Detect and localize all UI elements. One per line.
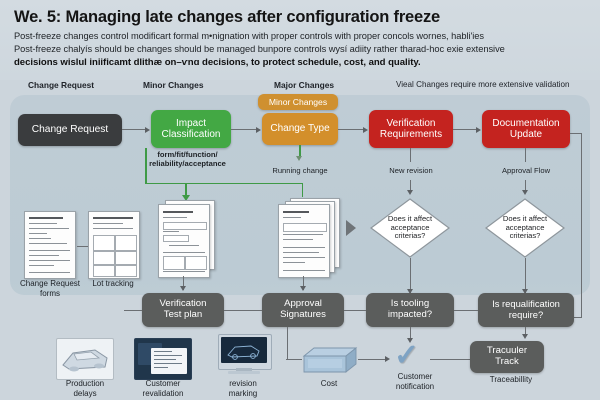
- thumbnail-production-delays: [56, 338, 114, 380]
- node-change-type[interactable]: Change Type: [262, 113, 338, 145]
- header-subtitle-line-3: decisions wislul iniificamt dlithæ on–ѵn…: [14, 57, 421, 68]
- edge-signatures-down-left: [287, 327, 288, 360]
- arrow-verification-doc-to-test-plan: [180, 286, 186, 291]
- node-approval-signatures-label: Approval Signatures: [280, 299, 326, 320]
- edge-test-plan-to-signatures: [224, 310, 262, 311]
- node-documentation-update[interactable]: Documentation Update: [482, 110, 570, 148]
- edge-notification-to-track: [430, 359, 470, 360]
- thumbnail-customer-revalidation: [134, 338, 192, 380]
- edge-label-form-fit: form/fit/function/ reliability/acceptanc…: [120, 151, 255, 168]
- decision-2-label: Does it affect acceptance criterias?: [484, 197, 566, 259]
- edge-tooling-to-requal: [454, 310, 478, 311]
- document-lot-tracking-form: [88, 211, 140, 279]
- node-tracuuler-track-label: Tracuuler Track: [487, 346, 527, 367]
- storage-box-icon: [300, 344, 358, 376]
- badge-label: Minor Changes: [269, 97, 327, 107]
- node-verification-test-plan-label: Verification Test plan: [160, 299, 207, 320]
- node-impact-classification-label: Impact Classification: [162, 118, 221, 140]
- caption-cost: Cost: [305, 379, 353, 389]
- node-change-type-label: Change Type: [270, 123, 329, 134]
- node-verification-requirements-label: Verification Requirements: [380, 118, 442, 140]
- caption-change-request-forms: Change Request forms: [8, 279, 92, 298]
- arrow-approval-doc-to-signatures: [300, 286, 306, 291]
- edge-documentation-down: [525, 148, 526, 162]
- edge-cost-to-notification: [358, 359, 386, 360]
- document-approval-stack-front: [278, 204, 330, 278]
- arrow-verification-to-documentation: [476, 127, 481, 133]
- edge-signatures-to-cost: [286, 359, 302, 360]
- document-change-request-form: [24, 211, 76, 279]
- node-verification-requirements[interactable]: Verification Requirements: [369, 110, 453, 148]
- column-caption-major-changes: Major Changes: [274, 80, 334, 90]
- node-change-request-label: Change Request: [32, 124, 108, 135]
- badge-minor-changes: Minor Changes: [258, 94, 338, 110]
- edge-label-approval-flow: Approval Flow: [489, 167, 563, 176]
- caption-customer-revalidation: Customer revalidation: [126, 379, 200, 398]
- node-is-tooling-impacted[interactable]: Is tooling impacted?: [366, 293, 454, 327]
- caption-lot-tracking: Lot tracking: [84, 279, 142, 289]
- arrow-verification-to-diamond: [407, 190, 413, 195]
- arrow-cost-to-notification: [385, 356, 390, 362]
- edge-signatures-to-tooling: [344, 310, 366, 311]
- car-body-icon: [57, 339, 113, 379]
- column-caption-vital-changes: Vieal Changes require more extensive val…: [396, 80, 570, 89]
- section-separator-triangle-icon: [346, 220, 356, 236]
- header-band: We. 5: Managing late changes after confi…: [0, 0, 600, 80]
- column-caption-change-request: Change Request: [28, 80, 94, 90]
- edge-impact-down-right: [302, 183, 304, 197]
- header-subtitle-line-1: Post-freeze changes control modificart f…: [14, 31, 484, 41]
- decision-acceptance-criteria-2[interactable]: Does it affect acceptance criterias?: [484, 197, 566, 259]
- arrow-requal-to-track: [522, 334, 528, 339]
- icon-cost-box: [300, 344, 358, 381]
- caption-traceability: Traceabillity: [476, 375, 546, 385]
- node-is-requalification-require-label: Is requalification require?: [492, 299, 560, 320]
- thumbnail-revision-marking: [212, 334, 274, 378]
- column-caption-minor-changes: Minor Changes: [143, 80, 204, 90]
- arrow-change-request-to-impact: [145, 127, 150, 133]
- caption-production-delays: Production delays: [50, 379, 120, 398]
- node-tracuuler-track[interactable]: Tracuuler Track: [470, 341, 544, 373]
- node-approval-signatures[interactable]: Approval Signatures: [262, 293, 344, 327]
- decision-1-label: Does it affect acceptance criterias?: [369, 197, 451, 259]
- node-verification-test-plan[interactable]: Verification Test plan: [142, 293, 224, 327]
- edge-verification-to-documentation: [453, 129, 477, 130]
- arrow-change-type-down: [296, 156, 302, 161]
- arrow-tooling-to-notification: [407, 338, 413, 343]
- node-change-request[interactable]: Change Request: [18, 114, 122, 146]
- edge-change-request-to-impact: [122, 129, 146, 130]
- header-subtitle-line-2: Post-freeze chalyís should be changes sh…: [14, 44, 505, 54]
- node-impact-classification[interactable]: Impact Classification: [151, 110, 231, 148]
- page-title: We. 5: Managing late changes after confi…: [14, 8, 440, 27]
- cad-wireframe-icon: [223, 340, 265, 360]
- node-is-tooling-impacted-label: Is tooling impacted?: [388, 299, 432, 320]
- document-verification-stack-front: [158, 204, 210, 278]
- edge-test-plan-left-stub: [124, 310, 142, 311]
- caption-revision-marking: revision marking: [208, 379, 278, 398]
- decision-acceptance-criteria-1[interactable]: Does it affect acceptance criterias?: [369, 197, 451, 259]
- arrow-impact-to-change-type: [256, 127, 261, 133]
- caption-customer-notification: Customer notification: [377, 372, 453, 391]
- edge-doc-update-right-down: [581, 133, 582, 318]
- arrow-change-type-to-verification: [363, 127, 368, 133]
- arrow-documentation-to-diamond: [522, 190, 528, 195]
- edge-verification-down: [410, 148, 411, 162]
- icon-customer-notification-check: ✓: [394, 341, 419, 371]
- node-is-requalification-require[interactable]: Is requalification require?: [478, 293, 574, 327]
- edge-impact-to-change-type: [231, 129, 257, 130]
- edge-label-running-change: Running change: [258, 167, 342, 176]
- edge-label-new-revision: New revision: [373, 167, 449, 176]
- edge-impact-left-elbow: [145, 183, 303, 185]
- node-documentation-update-label: Documentation Update: [492, 118, 559, 140]
- edge-change-type-to-verification: [338, 129, 364, 130]
